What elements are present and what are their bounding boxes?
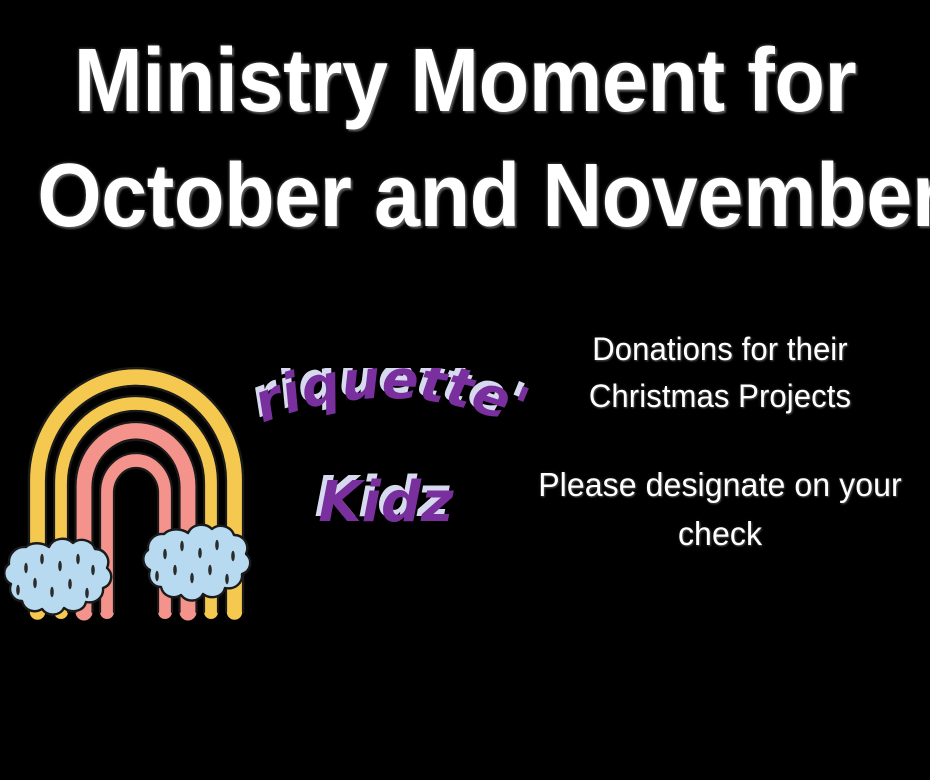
message-group-donations: Donations for their Christmas Projects (520, 326, 920, 419)
message-line-donations-2: Christmas Projects (526, 373, 914, 420)
message-line-donations-1: Donations for their (526, 326, 914, 373)
rainbow-icon (4, 300, 270, 625)
message-line-designate-2: check (526, 510, 914, 558)
message-block: Donations for their Christmas Projects P… (520, 326, 920, 558)
message-group-designate: Please designate on your check (520, 461, 920, 557)
title-line-2: October and November (37, 139, 893, 254)
title-line-1: Ministry Moment for (37, 24, 893, 139)
rainbow-cloud-left (4, 539, 111, 615)
kriquettes-kidz-logo-icon: Kriquette's Kriquette's Kidz Kidz (232, 368, 532, 548)
message-line-designate-1: Please designate on your (526, 461, 914, 509)
logo-line2: Kidz (318, 470, 454, 535)
slide-canvas: Ministry Moment for October and November (0, 0, 930, 780)
page-title: Ministry Moment for October and November (0, 24, 930, 254)
rainbow-illustration (4, 300, 270, 625)
kriquettes-kidz-logo: Kriquette's Kriquette's Kidz Kidz (232, 368, 532, 548)
